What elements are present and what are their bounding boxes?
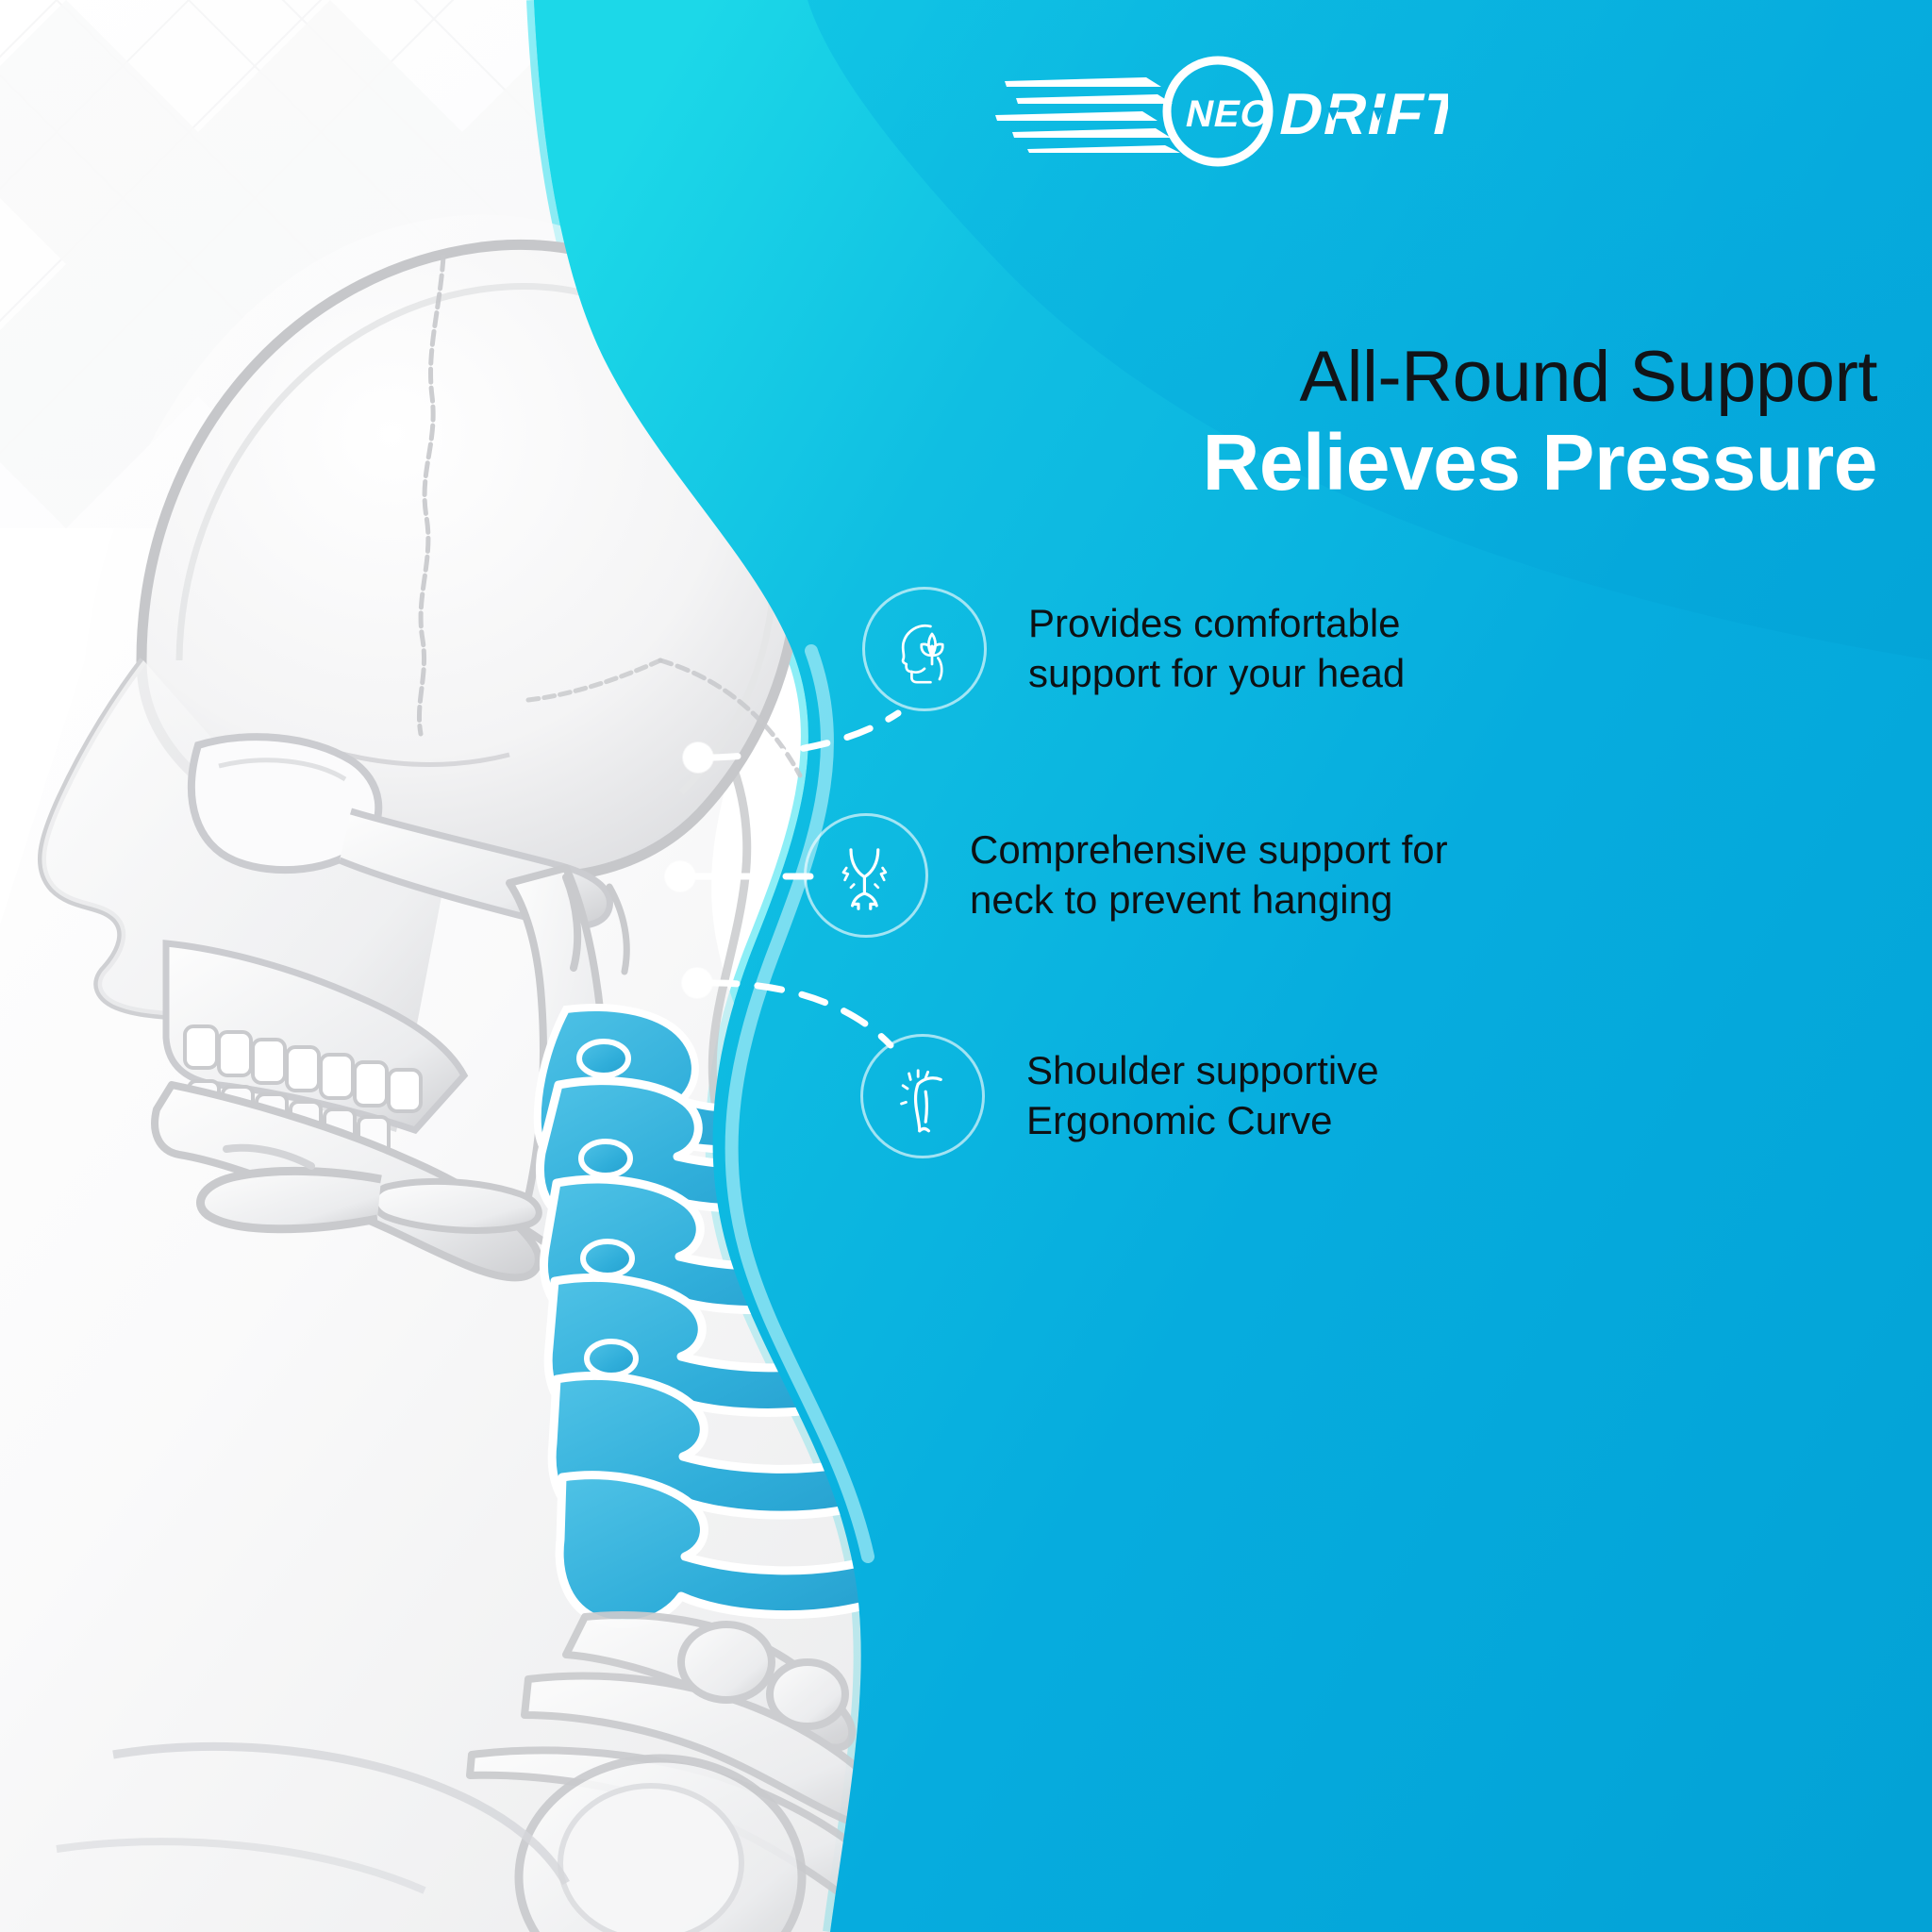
connector-dot-2 xyxy=(665,861,695,891)
neck-anatomy-icon xyxy=(804,813,928,938)
infographic-canvas: NEO DRIFT All-Round Support Relieves Pre… xyxy=(0,0,1932,1932)
headline-block: All-Round Support Relieves Pressure xyxy=(877,340,1877,505)
feature-item-shoulder-curve[interactable]: Shoulder supportive Ergonomic Curve xyxy=(860,1034,1379,1158)
feature-text-head-comfort: Provides comfortable support for your he… xyxy=(1028,599,1405,699)
svg-text:NEO: NEO xyxy=(1182,92,1275,134)
svg-text:DRIFT: DRIFT xyxy=(1274,82,1448,147)
connector-dot-1 xyxy=(683,742,713,773)
neo-drift-logo-icon: NEO DRIFT xyxy=(995,55,1448,168)
headline-line-1: All-Round Support xyxy=(877,340,1877,415)
feature-text-shoulder-curve: Shoulder supportive Ergonomic Curve xyxy=(1026,1046,1379,1146)
feature-text-line-2: Ergonomic Curve xyxy=(1026,1096,1379,1146)
connector-dot-3 xyxy=(682,968,712,998)
headline-line-2: Relieves Pressure xyxy=(877,421,1877,505)
feature-text-line-1: Shoulder supportive xyxy=(1026,1046,1379,1096)
brand-logo[interactable]: NEO DRIFT xyxy=(995,55,1448,168)
feature-item-neck-support[interactable]: Comprehensive support for neck to preven… xyxy=(804,813,1448,938)
background-layer xyxy=(0,0,1932,1932)
feature-text-line-2: support for your head xyxy=(1028,649,1405,699)
feature-text-neck-support: Comprehensive support for neck to preven… xyxy=(970,825,1448,925)
feature-text-line-2: neck to prevent hanging xyxy=(970,875,1448,925)
shoulder-anatomy-icon xyxy=(860,1034,985,1158)
feature-text-line-1: Provides comfortable xyxy=(1028,599,1405,649)
feature-text-line-1: Comprehensive support for xyxy=(970,825,1448,875)
feature-item-head-comfort[interactable]: Provides comfortable support for your he… xyxy=(862,587,1405,711)
head-lotus-icon xyxy=(862,587,987,711)
